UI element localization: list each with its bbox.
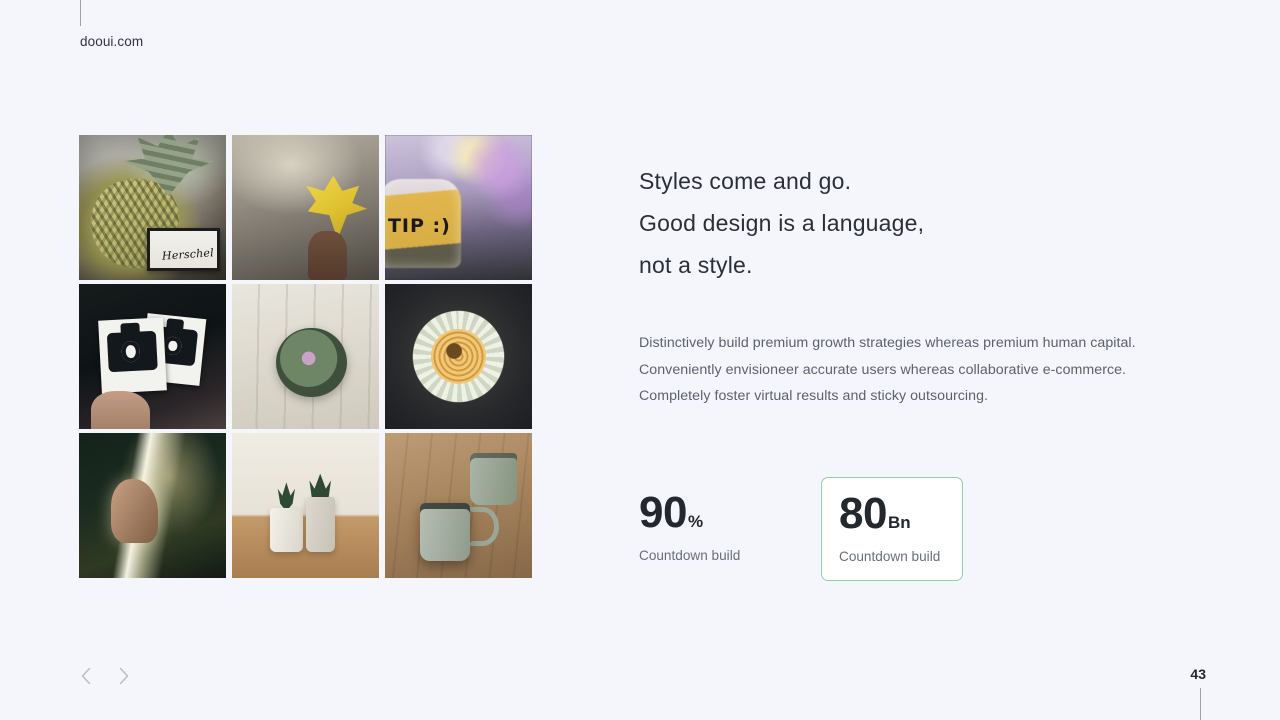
succulent-photo xyxy=(232,284,379,429)
chevron-right-icon xyxy=(118,667,130,685)
stat-card-percent: 90 % Countdown build xyxy=(639,477,821,563)
stat-label: Countdown build xyxy=(639,548,821,563)
chevron-left-icon xyxy=(80,667,92,685)
pot-shape xyxy=(270,508,302,552)
paragraph-line-1: Distinctively build premium growth strat… xyxy=(639,330,1159,357)
gallery-image-succulent[interactable] xyxy=(232,284,379,429)
stat-value: 80 Bn xyxy=(839,492,962,536)
pineapple-crown xyxy=(123,135,214,196)
brand-logo: dooui.com xyxy=(80,0,143,49)
gallery-image-leaf[interactable] xyxy=(232,135,379,280)
gallery-image-mug-pitcher[interactable] xyxy=(385,433,532,578)
headline-line-3: not a style. xyxy=(639,244,1159,286)
mug-shape xyxy=(420,503,470,561)
plant-shape xyxy=(276,482,297,511)
corner-rule xyxy=(1200,688,1201,720)
stat-unit: Bn xyxy=(888,513,911,533)
image-gallery: Herschel TIP :) xyxy=(79,135,532,578)
paragraph-line-3: Completely foster virtual results and st… xyxy=(639,383,1159,410)
maple-leaf-photo xyxy=(232,135,379,280)
gallery-image-potted-plants[interactable] xyxy=(232,433,379,578)
mug-pitcher-photo xyxy=(385,433,532,578)
gallery-image-camera-stickers[interactable] xyxy=(79,284,226,429)
tip-jar-text: TIP :) xyxy=(388,215,451,237)
camera-stickers-photo xyxy=(79,284,226,429)
brand-name: dooui.com xyxy=(80,34,143,49)
mug-handle-shape xyxy=(467,507,499,546)
pot-shape xyxy=(306,497,335,552)
gallery-image-tip-jar[interactable]: TIP :) xyxy=(385,135,532,280)
slide-navigation xyxy=(73,663,137,689)
potted-plants-photo xyxy=(232,433,379,578)
gallery-image-daisy[interactable] xyxy=(385,284,532,429)
headline-line-1: Styles come and go. xyxy=(639,160,1159,202)
paragraph-line-2: Conveniently envisioneer accurate users … xyxy=(639,357,1159,384)
body-paragraph: Distinctively build premium growth strat… xyxy=(639,330,1159,410)
camera-icon xyxy=(106,331,157,373)
pitcher-shape xyxy=(470,453,517,505)
prev-slide-button[interactable] xyxy=(73,663,99,689)
sticker-front xyxy=(98,317,166,393)
headline-line-2: Good design is a language, xyxy=(639,202,1159,244)
stat-value: 90 % xyxy=(639,491,821,535)
gallery-image-pineapple[interactable]: Herschel xyxy=(79,135,226,280)
sunlight-hand-photo xyxy=(79,433,226,578)
daisy-photo xyxy=(385,284,532,429)
stat-unit: % xyxy=(688,512,703,532)
stat-number: 90 xyxy=(639,491,687,535)
brand-rule xyxy=(80,0,81,26)
content-column: Styles come and go. Good design is a lan… xyxy=(639,160,1159,410)
stat-number: 80 xyxy=(839,492,887,536)
stat-label: Countdown build xyxy=(839,549,962,564)
statistics-row: 90 % Countdown build 80 Bn Countdown bui… xyxy=(639,477,963,581)
hand-shape xyxy=(91,391,150,429)
headline: Styles come and go. Good design is a lan… xyxy=(639,160,1159,286)
page-number: 43 xyxy=(1190,666,1206,682)
stat-card-billions[interactable]: 80 Bn Countdown build xyxy=(821,477,963,581)
next-slide-button[interactable] xyxy=(111,663,137,689)
gallery-image-sunlight-hand[interactable] xyxy=(79,433,226,578)
tip-jar-photo xyxy=(385,135,532,280)
